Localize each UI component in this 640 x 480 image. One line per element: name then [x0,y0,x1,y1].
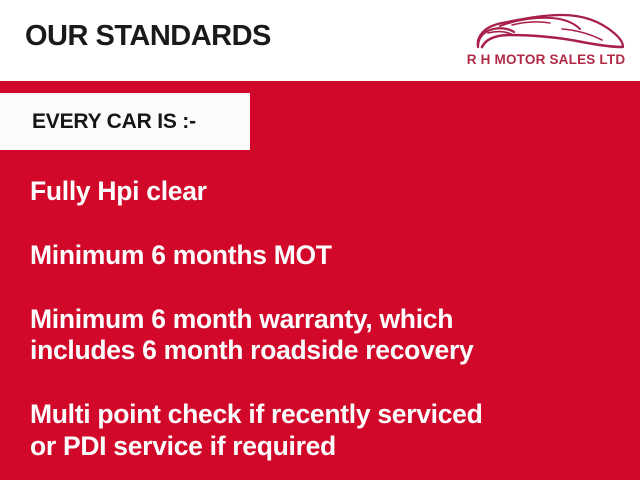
page-title: OUR STANDARDS [25,22,271,51]
list-item: Minimum 6 month warranty, which includes… [30,304,620,368]
poster-header: OUR STANDARDS [0,0,640,81]
standards-list: Fully Hpi clear Minimum 6 months MOT Min… [30,176,620,463]
list-item: Multi point check if recently serviced o… [30,399,620,463]
car-silhouette-icon [466,9,626,53]
company-name: R H MOTOR SALES LTD [466,53,626,68]
standards-poster: OUR STANDARDS [0,0,640,480]
list-item: Fully Hpi clear [30,176,620,208]
company-logo: R H MOTOR SALES LTD [466,9,626,75]
list-item: Minimum 6 months MOT [30,240,620,272]
every-car-banner: EVERY CAR IS :- [0,93,250,150]
every-car-banner-label: EVERY CAR IS :- [32,111,196,132]
